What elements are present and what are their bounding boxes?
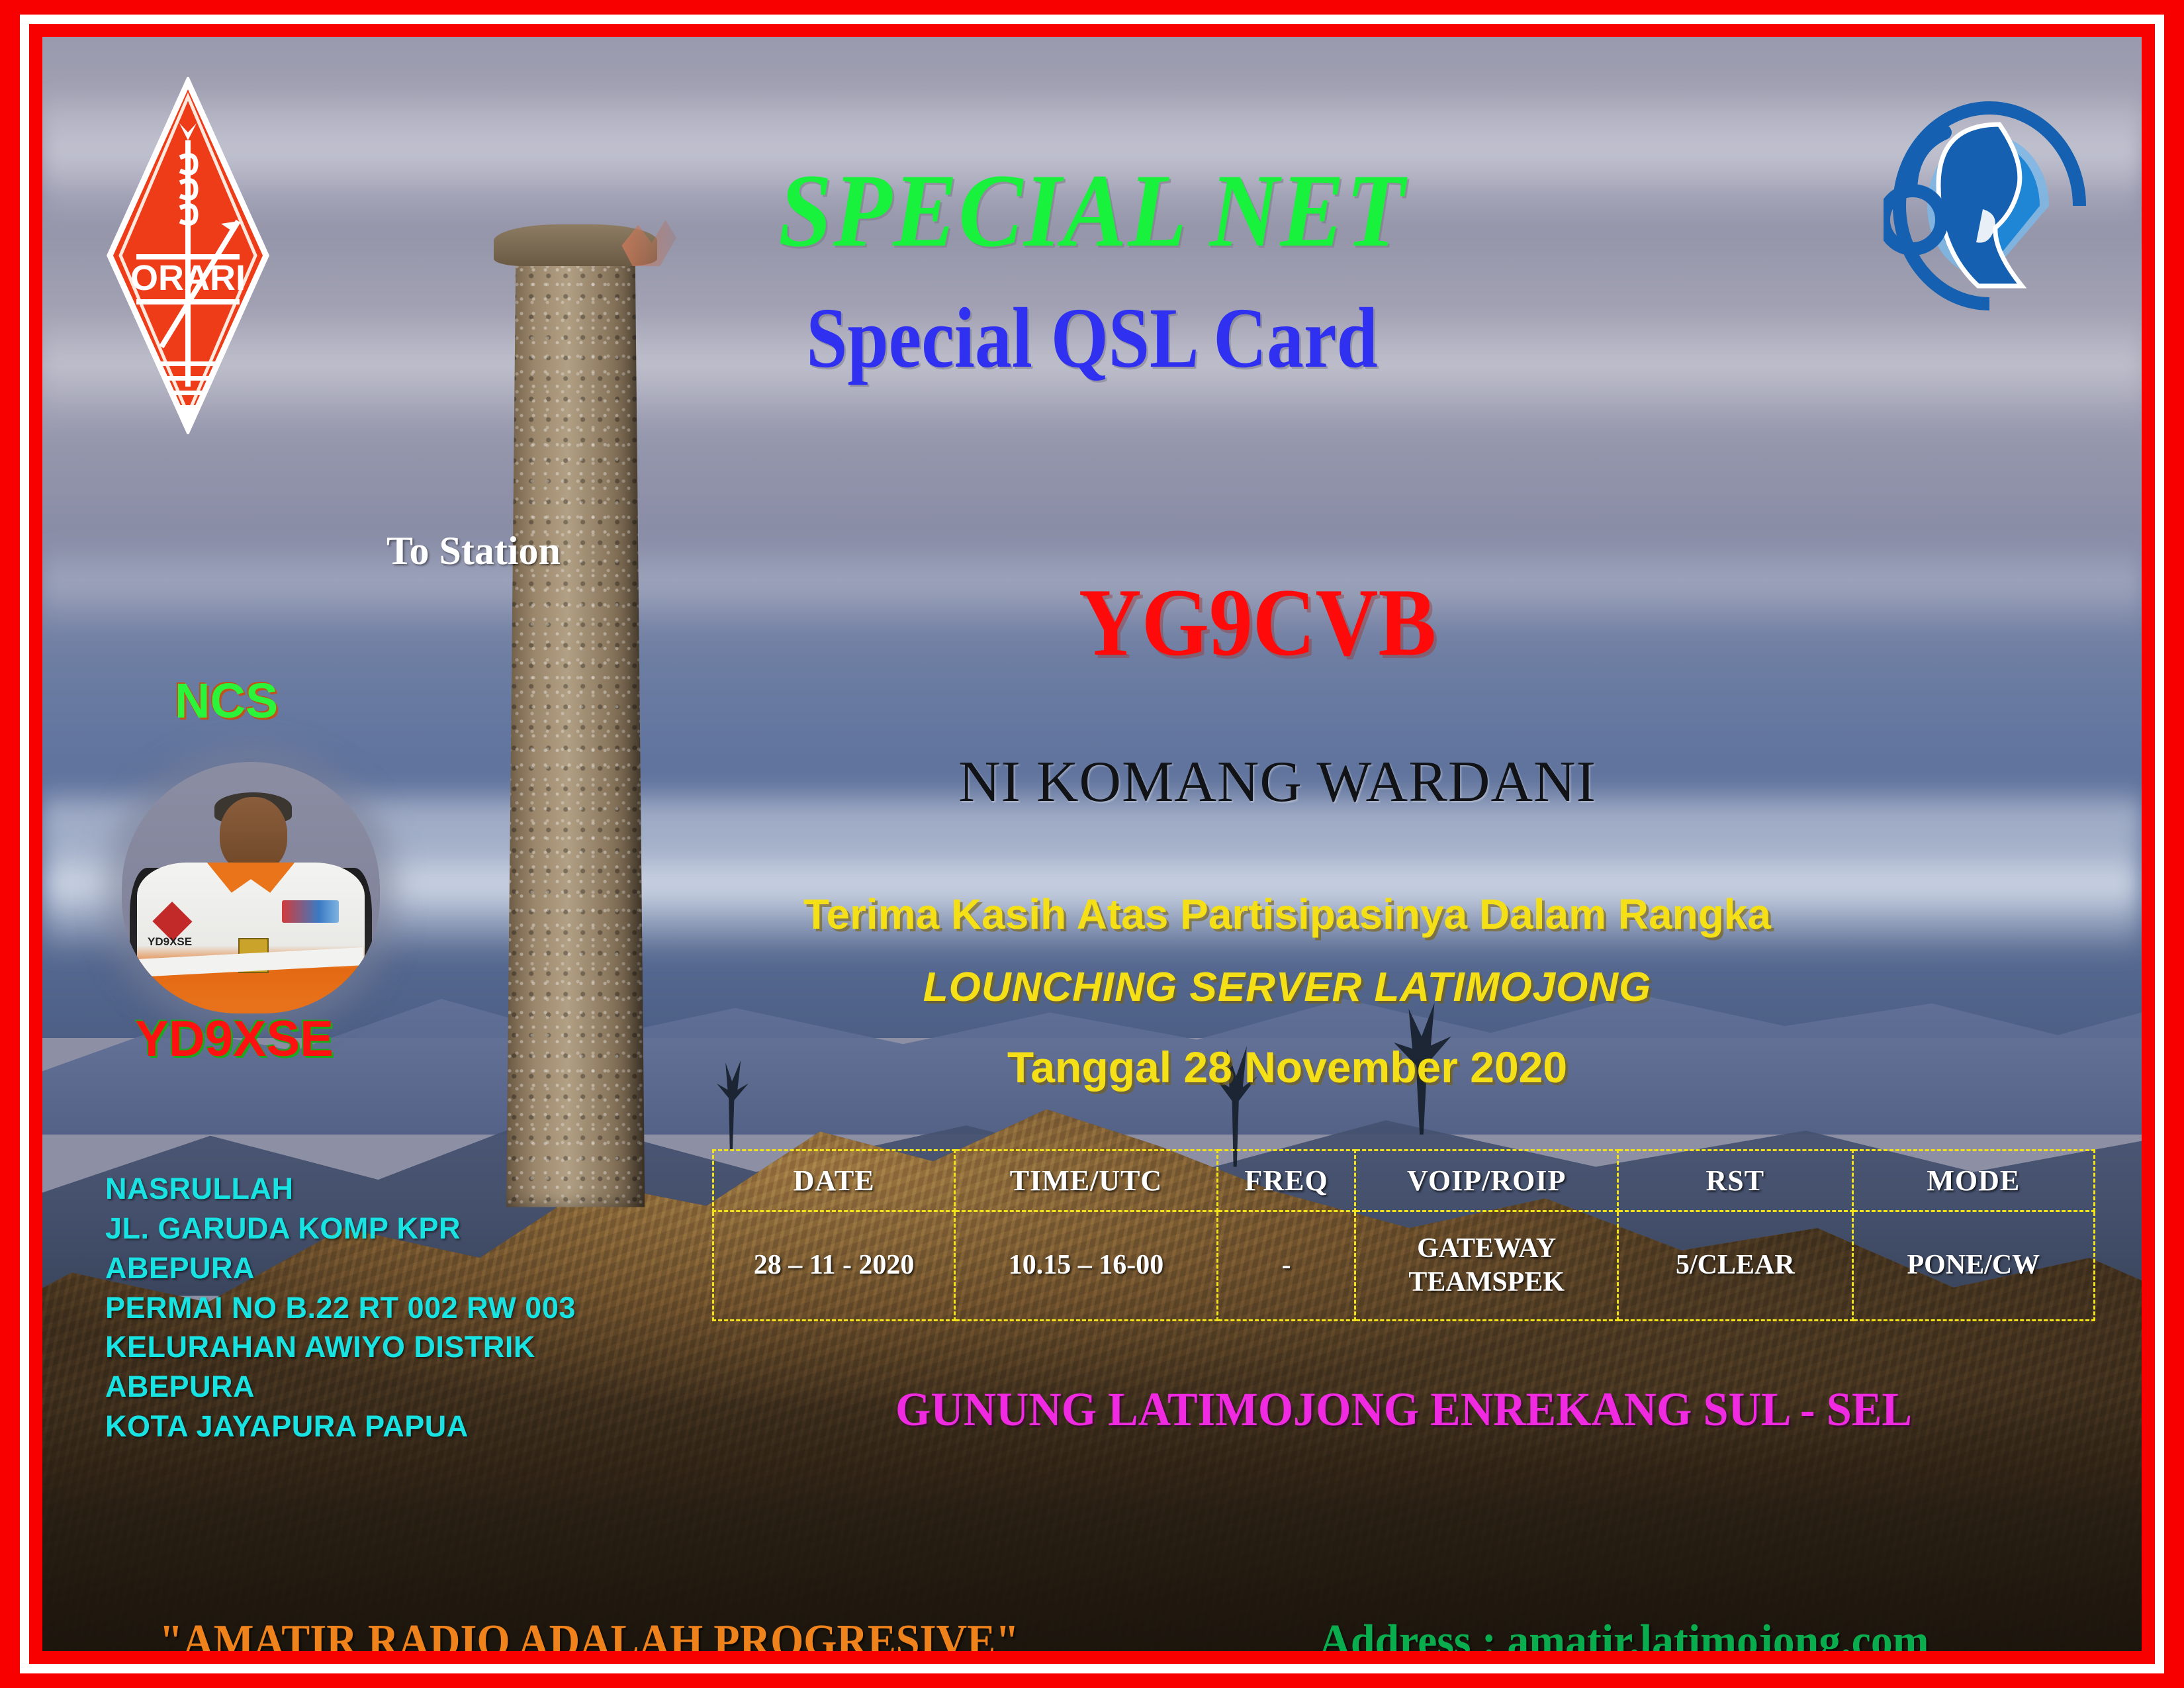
avatar-face [220, 797, 287, 872]
cell-date: 28 – 11 - 2020 [713, 1211, 955, 1321]
cell-freq: - [1217, 1211, 1355, 1321]
web-address-text: Address : amatir.latimojong.com [1319, 1615, 1929, 1651]
cell-voip: GATEWAY TEAMSPEK [1355, 1211, 1618, 1321]
mailing-address: NASRULLAH JL. GARUDA KOMP KPR ABEPURA PE… [105, 1169, 576, 1446]
column-header-freq: FREQ [1217, 1150, 1355, 1211]
address-line: ABEPURA [105, 1367, 576, 1407]
column-header-mode: MODE [1852, 1150, 2094, 1211]
recipient-operator-name: NI KOMANG WARDANI [823, 749, 1731, 816]
address-line: KOTA JAYAPURA PAPUA [105, 1407, 576, 1446]
column-header-time: TIME/UTC [955, 1150, 1218, 1211]
ncs-role-label: NCS [175, 673, 278, 729]
cell-voip-line1: GATEWAY [1417, 1233, 1556, 1264]
address-line: NASRULLAH [105, 1169, 576, 1209]
qso-log-table: DATE TIME/UTC FREQ VOIP/ROIP RST MODE 28… [712, 1149, 2095, 1321]
card-background-photo: ORARI SPECIAL NET Special QSL Card To St… [42, 37, 2142, 1651]
address-line: ABEPURA [105, 1248, 576, 1288]
qsl-card: ORARI SPECIAL NET Special QSL Card To St… [0, 0, 2184, 1688]
page-title: SPECIAL NET [126, 151, 2058, 271]
cell-mode: PONE/CW [1852, 1211, 2094, 1321]
ncs-callsign: YD9XSE [135, 1010, 334, 1068]
cell-time: 10.15 – 16-00 [955, 1211, 1218, 1321]
address-line: KELURAHAN AWIYO DISTRIK [105, 1327, 576, 1367]
event-name: LOUNCHING SERVER LATIMOJONG [803, 964, 1771, 1011]
thanks-line-1: Terima Kasih Atas Partisipasinya Dalam R… [803, 890, 1771, 939]
to-station-label: To Station [387, 528, 561, 574]
table-header-row: DATE TIME/UTC FREQ VOIP/ROIP RST MODE [713, 1150, 2095, 1211]
cell-voip-line2: TEAMSPEK [1408, 1267, 1565, 1297]
address-line: JL. GARUDA KOMP KPR [105, 1209, 576, 1248]
avatar-callsign-tag: YD9XSE [148, 935, 192, 949]
avatar-chest-patch [282, 900, 339, 923]
cell-rst: 5/CLEAR [1617, 1211, 1852, 1321]
location-line: GUNUNG LATIMOJONG ENREKANG SUL - SEL [747, 1382, 2061, 1437]
event-date: Tanggal 28 November 2020 [803, 1042, 1771, 1092]
column-header-rst: RST [1617, 1150, 1852, 1211]
ncs-operator-avatar: YD9XSE [122, 762, 380, 1013]
page-subtitle: Special QSL Card [189, 289, 1995, 388]
slogan-text: "AMATIR RADIO ADALAH PROGRESIVE" [159, 1615, 1019, 1651]
recipient-callsign: YG9CVB [867, 567, 1649, 678]
table-row: 28 – 11 - 2020 10.15 – 16-00 - GATEWAY T… [713, 1211, 2095, 1321]
address-line: PERMAI NO B.22 RT 002 RW 003 [105, 1288, 576, 1328]
column-header-date: DATE [713, 1150, 955, 1211]
column-header-voip: VOIP/ROIP [1355, 1150, 1618, 1211]
